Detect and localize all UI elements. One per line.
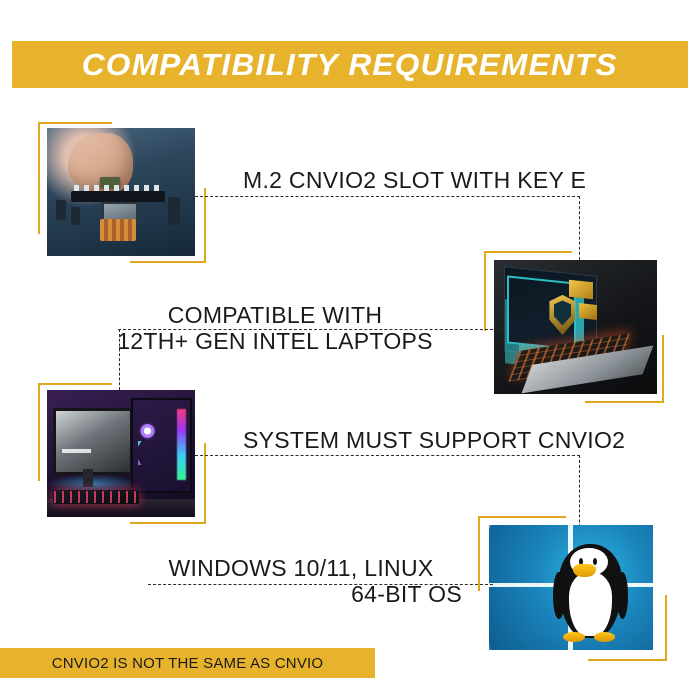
m2-slot-shape: [71, 191, 166, 203]
capacitor-shape-a: [56, 200, 66, 220]
rgb-keyboard-shape: [53, 490, 139, 504]
watercooling-tubes-shape: [138, 441, 178, 465]
tux-foot-left-shape: [563, 632, 585, 642]
rgb-strip-shape: [177, 409, 186, 480]
motherboard-m2-slot-photo: [47, 128, 195, 256]
gold-panel-shape-b: [579, 303, 597, 320]
requirement-label-4-line-2: 64-BIT OS: [140, 581, 462, 607]
gaming-laptop-security-photo: [494, 260, 657, 394]
gold-panel-shape-a: [569, 280, 593, 300]
connector-dash-1-horizontal: [195, 196, 580, 197]
tux-wing-left-shape: [553, 572, 565, 619]
tux-foot-right-shape: [594, 632, 616, 642]
footer-note: CNVIO2 IS NOT THE SAME AS CNVIO: [52, 655, 324, 672]
requirement-label-3: SYSTEM MUST SUPPORT CNVIO2: [243, 428, 625, 454]
connector-dash-1-vertical: [579, 196, 580, 270]
footer-banner: CNVIO2 IS NOT THE SAME AS CNVIO: [0, 648, 375, 678]
requirement-label-1: M.2 CNVIO2 SLOT WITH KEY E: [243, 168, 586, 194]
requirement-label-3-line-1: SYSTEM MUST SUPPORT CNVIO2: [243, 428, 625, 454]
page-title: COMPATIBILITY REQUIREMENTS: [82, 47, 618, 83]
title-banner: COMPATIBILITY REQUIREMENTS: [12, 41, 688, 88]
infographic-canvas: COMPATIBILITY REQUIREMENTS M.2 CNVIO2 SL…: [0, 0, 700, 700]
capacitor-shape-c: [168, 197, 180, 225]
capacitor-shape-b: [71, 207, 80, 225]
cooling-fan-shape: [139, 422, 156, 440]
requirement-label-2-line-2: 12TH+ GEN INTEL LAPTOPS: [105, 328, 445, 354]
requirement-label-2-line-1: COMPATIBLE WITH: [105, 302, 445, 328]
monitor-shape: [53, 408, 133, 475]
pc-tower-shape: [131, 398, 191, 493]
connector-dash-2-horizontal: [118, 329, 498, 330]
tux-belly-shape: [569, 572, 612, 636]
connector-dash-4-horizontal: [148, 584, 493, 585]
tux-wing-right-shape: [617, 572, 629, 619]
requirement-label-1-line-1: M.2 CNVIO2 SLOT WITH KEY E: [243, 168, 586, 194]
rgb-gaming-pc-photo: [47, 390, 195, 517]
windows-linux-logo-photo: [489, 525, 653, 650]
heatsink-shape: [100, 219, 136, 241]
requirement-label-4: WINDOWS 10/11, LINUX 64-BIT OS: [140, 555, 462, 608]
connector-dash-2-vertical: [119, 329, 120, 395]
tux-penguin-icon: [555, 538, 627, 641]
connector-dash-3-horizontal: [195, 455, 580, 456]
monitor-stand-shape: [83, 469, 93, 487]
requirement-label-4-line-1: WINDOWS 10/11, LINUX: [140, 555, 462, 581]
